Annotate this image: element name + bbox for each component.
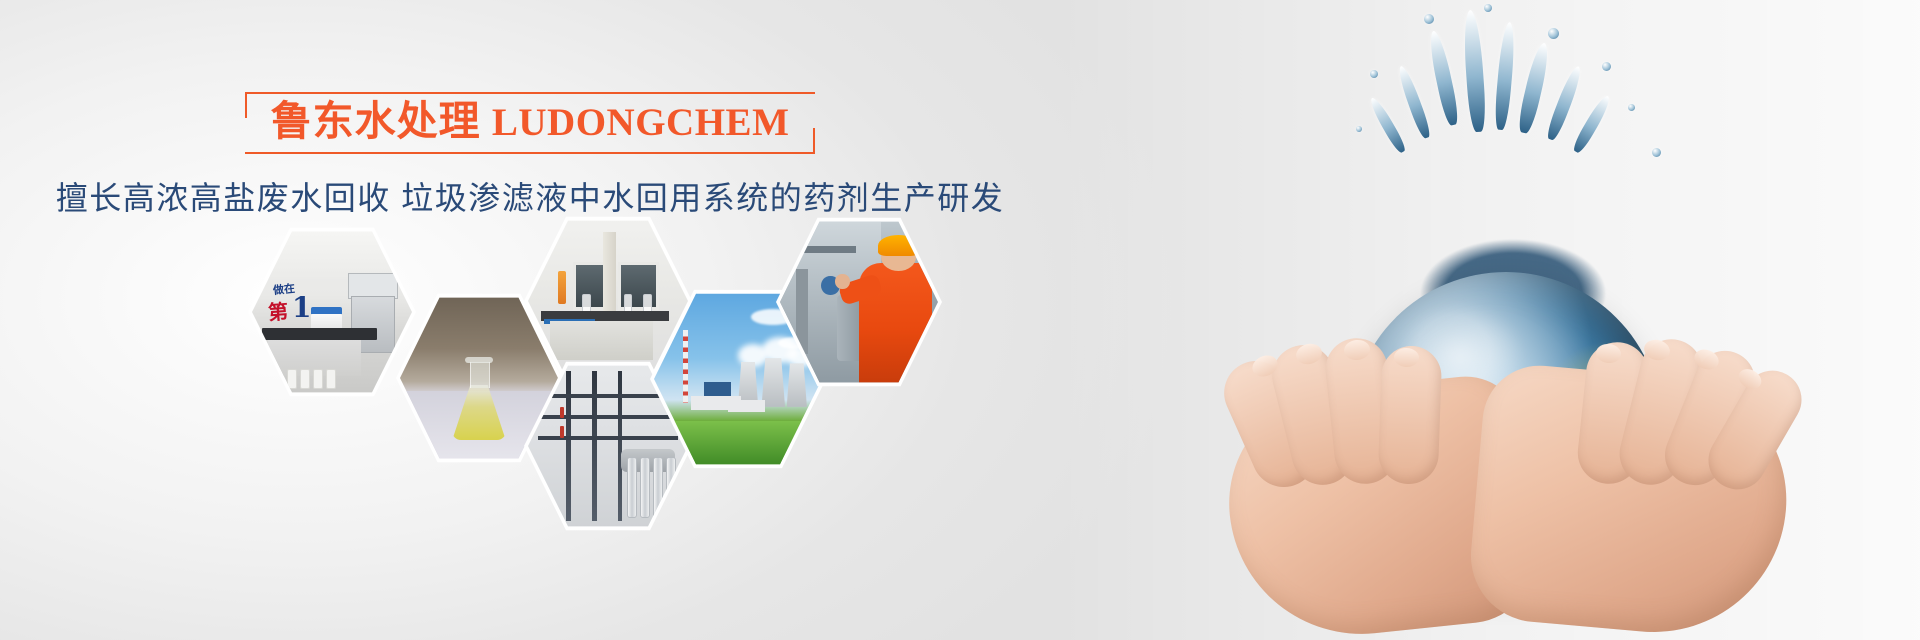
hex-tile-laboratory-room[interactable]: 做在 第 1 bbox=[248, 226, 416, 398]
bracket-top-line bbox=[245, 92, 816, 94]
bracket-bottom-line bbox=[245, 152, 816, 154]
title-chinese: 鲁东水处理 bbox=[271, 98, 481, 144]
title-frame: 鲁东水处理 LUDONGCHEM bbox=[245, 92, 816, 154]
title-english: LUDONGCHEM bbox=[492, 101, 790, 144]
bracket-left-tick bbox=[245, 92, 247, 118]
page-title: 鲁东水处理 LUDONGCHEM bbox=[271, 98, 790, 146]
hexagon-photo-cluster: 做在 第 1 bbox=[0, 218, 1000, 518]
promo-banner: 鲁东水处理 LUDONGCHEM 擅长高浓高盐废水回收 垃圾渗滤液中水回用系统的… bbox=[0, 0, 1920, 640]
bracket-right-tick bbox=[813, 128, 815, 154]
banner-text-block: 鲁东水处理 LUDONGCHEM 擅长高浓高盐废水回收 垃圾渗滤液中水回用系统的… bbox=[0, 92, 1060, 219]
hands-holding-globe bbox=[1230, 352, 1790, 640]
banner-subtitle: 擅长高浓高盐废水回收 垃圾渗滤液中水回用系统的药剂生产研发 bbox=[0, 173, 1060, 219]
water-splash-icon bbox=[1316, 8, 1706, 308]
wall-slogan-number: 1 bbox=[292, 291, 311, 324]
hands-water-globe-artwork bbox=[1110, 0, 1920, 640]
wall-slogan-line2: 第 bbox=[267, 295, 289, 325]
hex-image-laboratory-room: 做在 第 1 bbox=[252, 230, 412, 394]
